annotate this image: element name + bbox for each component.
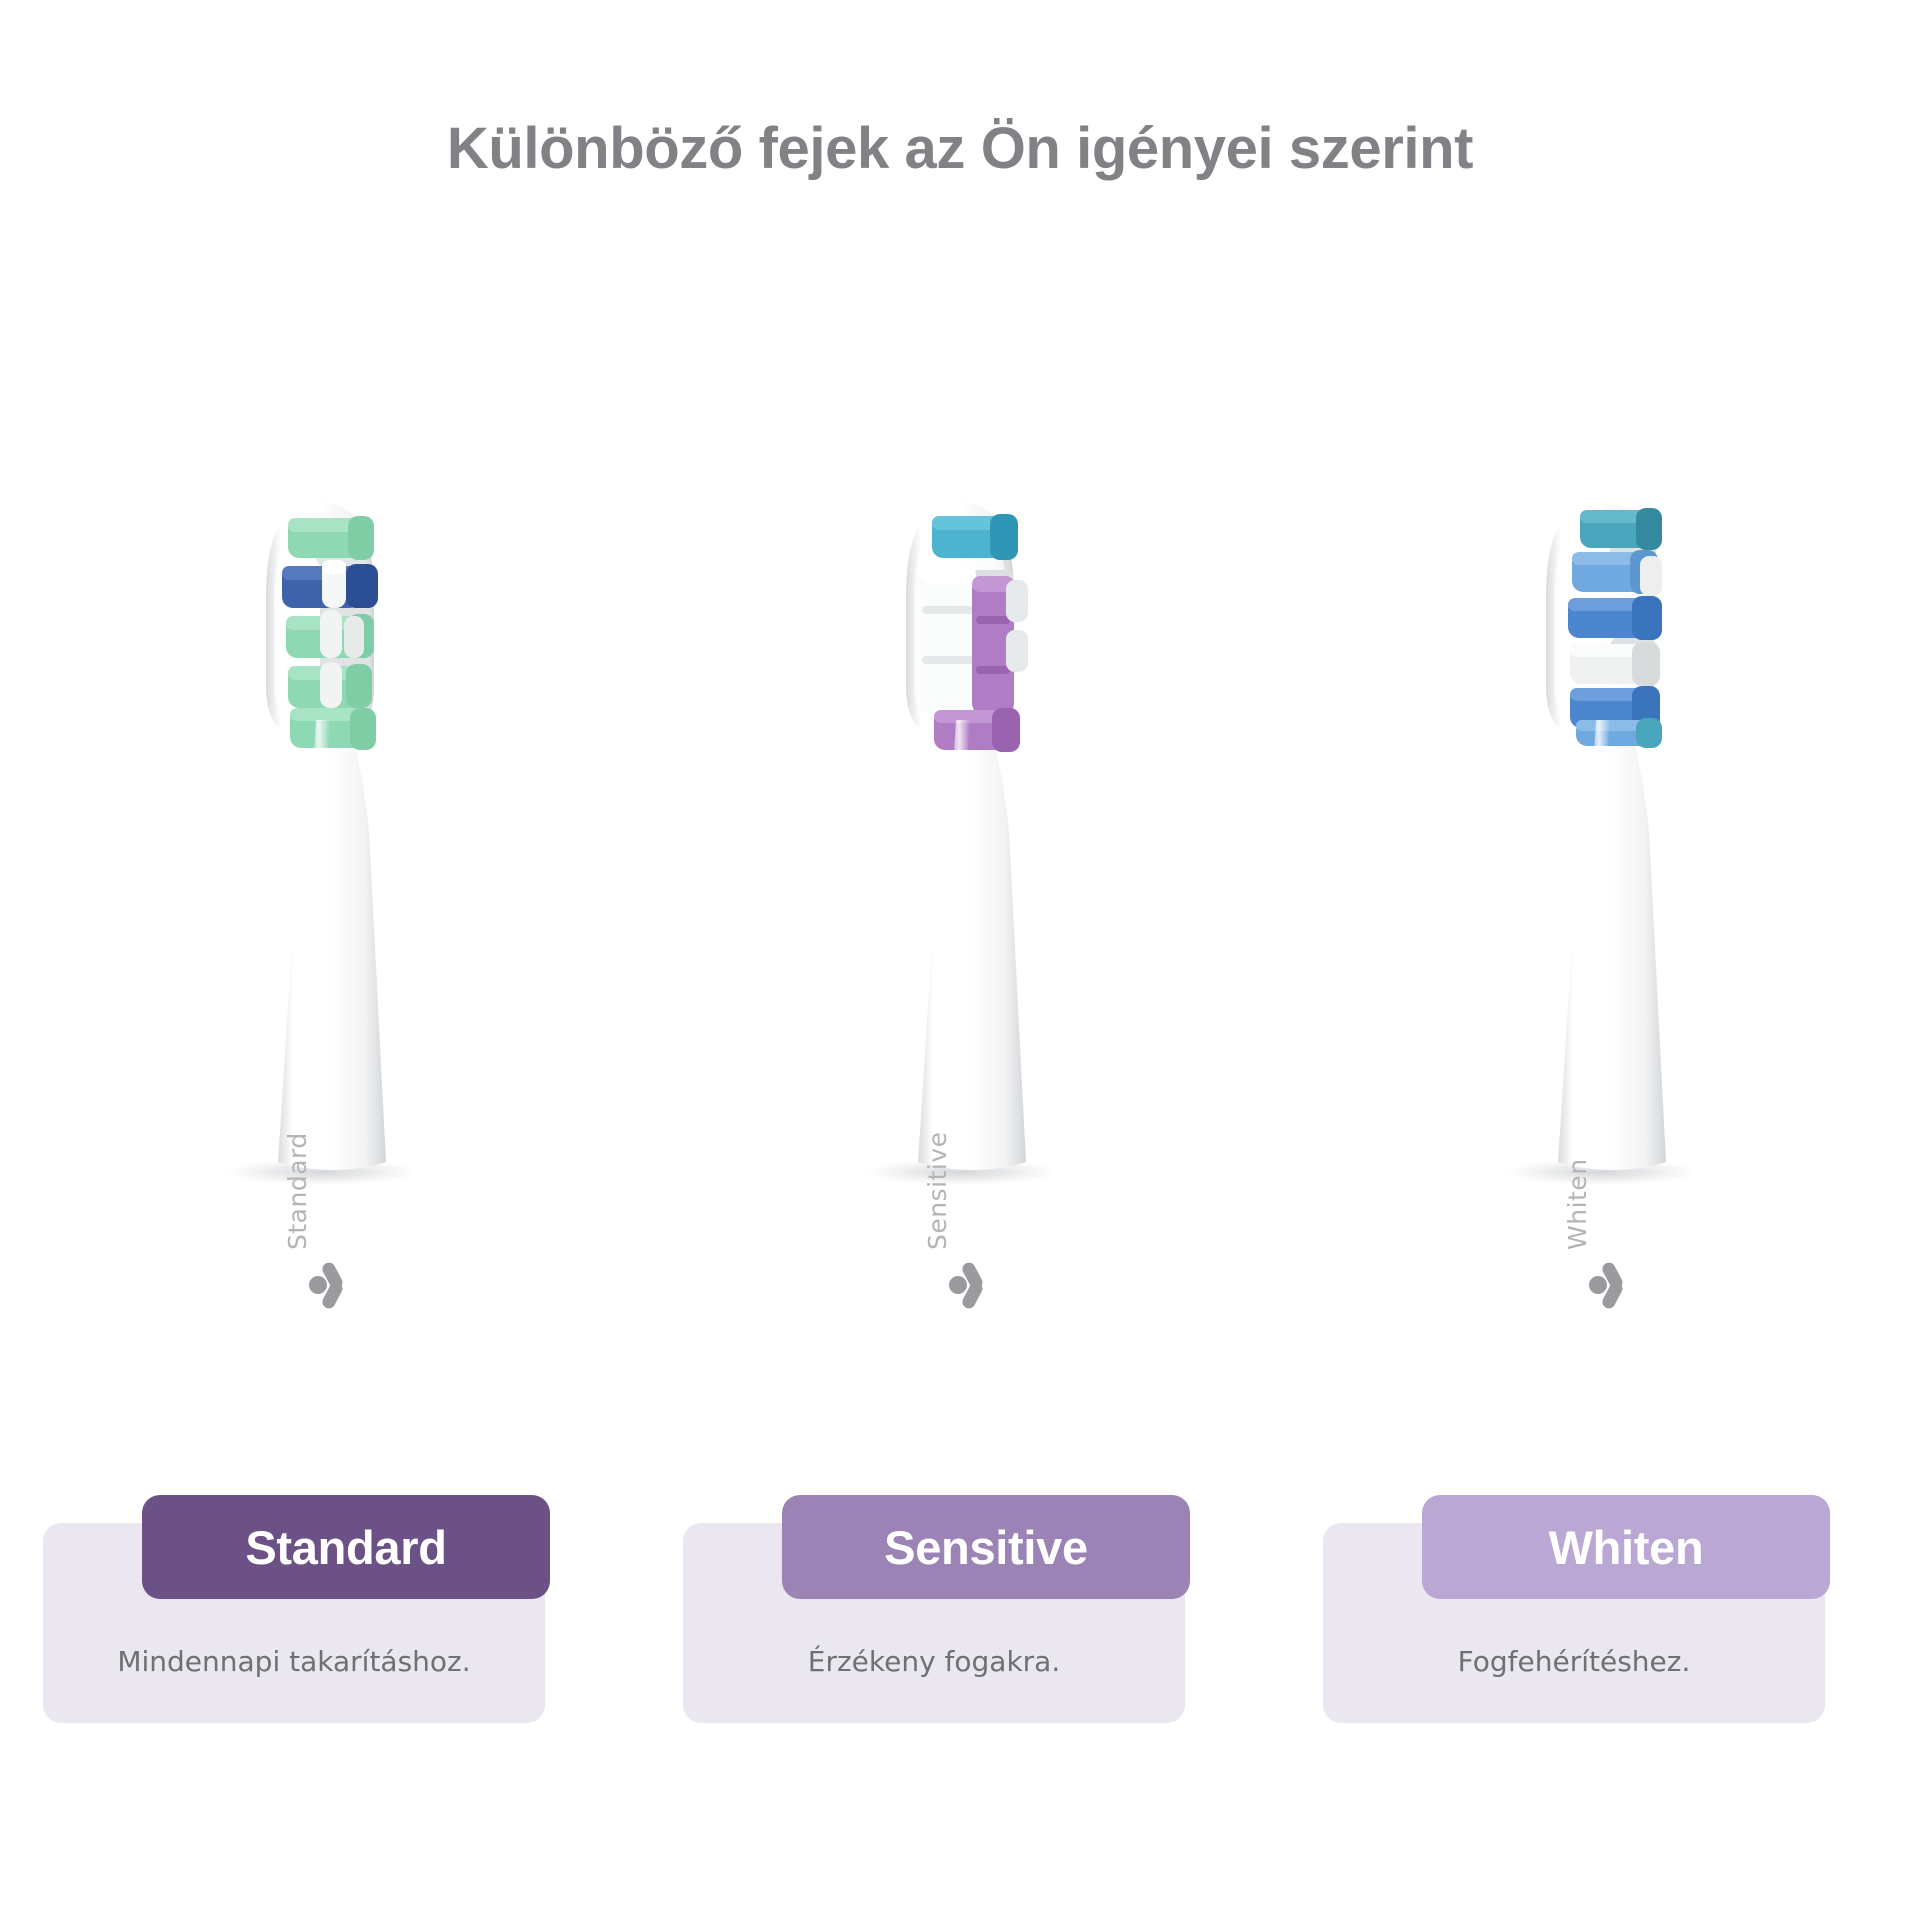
product-image-row: Standard [0,420,1920,1450]
page-title: Különböző fejek az Ön igényei szerint [0,117,1920,181]
brand-chevron-icon [946,1258,1000,1312]
product-sensitive: Sensitive [640,420,1280,1450]
card-whiten: Fogfehérítéshez. Whiten [1280,1495,1920,1755]
handle-label-whiten: Whiten [1563,1158,1592,1250]
card-sensitive: Érzékeny fogakra. Sensitive [640,1495,1280,1755]
brand-chevron-icon [1586,1258,1640,1312]
card-description-standard: Mindennapi takarításhoz. [43,1645,545,1678]
card-description-sensitive: Érzékeny fogakra. [683,1645,1185,1678]
handle-label-sensitive: Sensitive [923,1132,952,1251]
card-standard: Mindennapi takarításhoz. Standard [0,1495,640,1755]
badge-whiten[interactable]: Whiten [1422,1495,1830,1599]
card-description-whiten: Fogfehérítéshez. [1323,1645,1825,1678]
brand-chevron-icon [306,1258,360,1312]
badge-standard[interactable]: Standard [142,1495,550,1599]
badge-sensitive[interactable]: Sensitive [782,1495,1190,1599]
product-standard: Standard [0,420,640,1450]
product-whiten: Whiten [1280,420,1920,1450]
product-label-cards: Mindennapi takarításhoz. Standard Érzéke… [0,1495,1920,1755]
handle-label-standard: Standard [283,1132,312,1250]
